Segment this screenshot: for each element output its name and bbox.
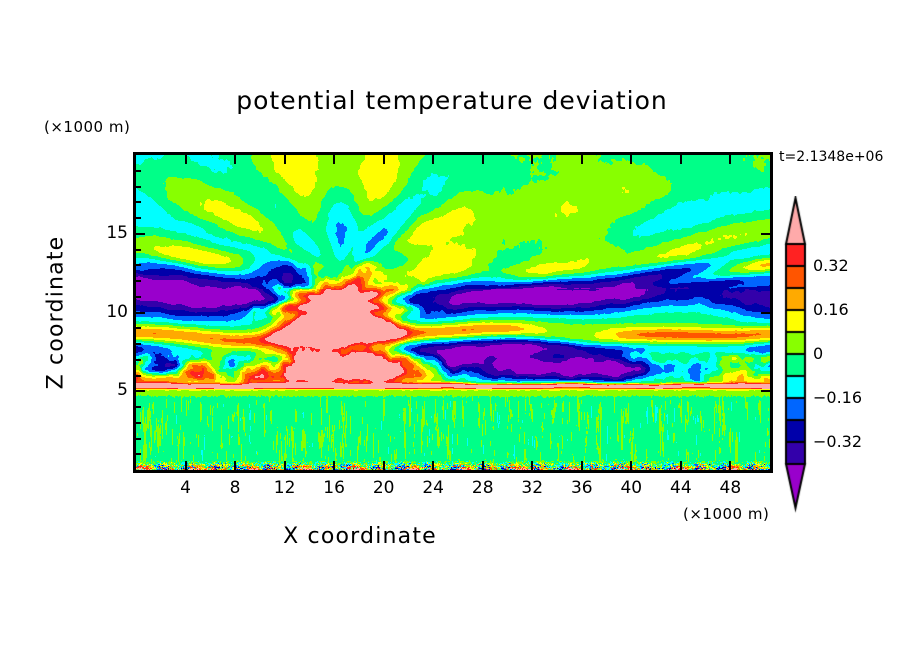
x-axis-title: X coordinate (0, 524, 720, 549)
y-minor-tick (136, 438, 141, 440)
x-tick-mark (234, 461, 236, 470)
x-tick-mark (432, 461, 434, 470)
y-minor-tick (136, 280, 141, 282)
x-tick-mark (680, 155, 682, 164)
x-tick-mark (630, 461, 632, 470)
x-tick-mark (531, 461, 533, 470)
y-minor-tick (136, 359, 141, 361)
y-minor-tick (136, 375, 141, 377)
x-tick-mark (333, 461, 335, 470)
colorbar-tick-label: −0.16 (813, 388, 862, 407)
figure-root: potential temperature deviation (×1000 m… (0, 0, 904, 654)
chart-title: potential temperature deviation (0, 86, 904, 115)
x-tick-mark (185, 461, 187, 470)
colorbar-tick-label: 0 (813, 344, 823, 363)
x-tick-label: 8 (224, 478, 246, 498)
y-tick-mark (136, 233, 145, 235)
x-tick-mark (333, 155, 335, 164)
y-axis-title: Z coordinate (44, 213, 69, 413)
x-tick-mark (729, 461, 731, 470)
y-minor-tick (136, 264, 141, 266)
colorbar-canvas (782, 196, 812, 516)
x-tick-mark (185, 155, 187, 164)
y-minor-tick (136, 406, 141, 408)
x-tick-label: 36 (571, 478, 593, 498)
y-minor-tick (136, 249, 141, 251)
y-minor-tick (136, 453, 141, 455)
y-minor-tick (136, 201, 141, 203)
contour-plot-area (136, 155, 770, 470)
x-tick-mark (581, 461, 583, 470)
x-tick-label: 48 (719, 478, 741, 498)
colorbar-tick-label: 0.32 (813, 256, 849, 275)
colorbar (782, 196, 812, 516)
x-tick-mark (482, 155, 484, 164)
y-minor-tick (136, 422, 141, 424)
x-tick-mark (482, 461, 484, 470)
x-tick-label: 12 (274, 478, 296, 498)
x-tick-mark (729, 155, 731, 164)
x-tick-mark (680, 461, 682, 470)
x-tick-mark (234, 155, 236, 164)
y-minor-tick (136, 186, 141, 188)
colorbar-tick-label: 0.16 (813, 300, 849, 319)
x-tick-label: 44 (670, 478, 692, 498)
y-minor-tick (136, 170, 141, 172)
x-tick-mark (581, 155, 583, 164)
y-axis-units: (×1000 m) (44, 118, 130, 136)
x-tick-label: 4 (175, 478, 197, 498)
colorbar-tick-label: −0.32 (813, 432, 862, 451)
y-tick-mark (136, 390, 145, 392)
y-tick-mark (136, 312, 145, 314)
y-tick-label: 10 (98, 302, 128, 322)
x-tick-mark (383, 461, 385, 470)
x-tick-mark (284, 461, 286, 470)
y-minor-tick (136, 217, 141, 219)
contour-field-canvas (136, 155, 770, 470)
x-tick-mark (284, 155, 286, 164)
x-tick-mark (383, 155, 385, 164)
x-tick-label: 24 (422, 478, 444, 498)
x-tick-label: 20 (373, 478, 395, 498)
x-axis-units: (×1000 m) (683, 505, 769, 523)
timestamp-annotation: t=2.1348e+06 (779, 149, 883, 165)
x-tick-label: 16 (323, 478, 345, 498)
y-tick-label: 15 (98, 223, 128, 243)
y-tick-label: 5 (98, 380, 128, 400)
y-tick-mark (761, 312, 770, 314)
x-tick-label: 40 (620, 478, 642, 498)
y-minor-tick (136, 296, 141, 298)
x-tick-label: 28 (472, 478, 494, 498)
y-tick-mark (761, 390, 770, 392)
x-tick-mark (630, 155, 632, 164)
x-tick-mark (432, 155, 434, 164)
x-tick-mark (531, 155, 533, 164)
y-tick-mark (761, 233, 770, 235)
x-tick-label: 32 (521, 478, 543, 498)
y-minor-tick (136, 343, 141, 345)
y-minor-tick (136, 327, 141, 329)
